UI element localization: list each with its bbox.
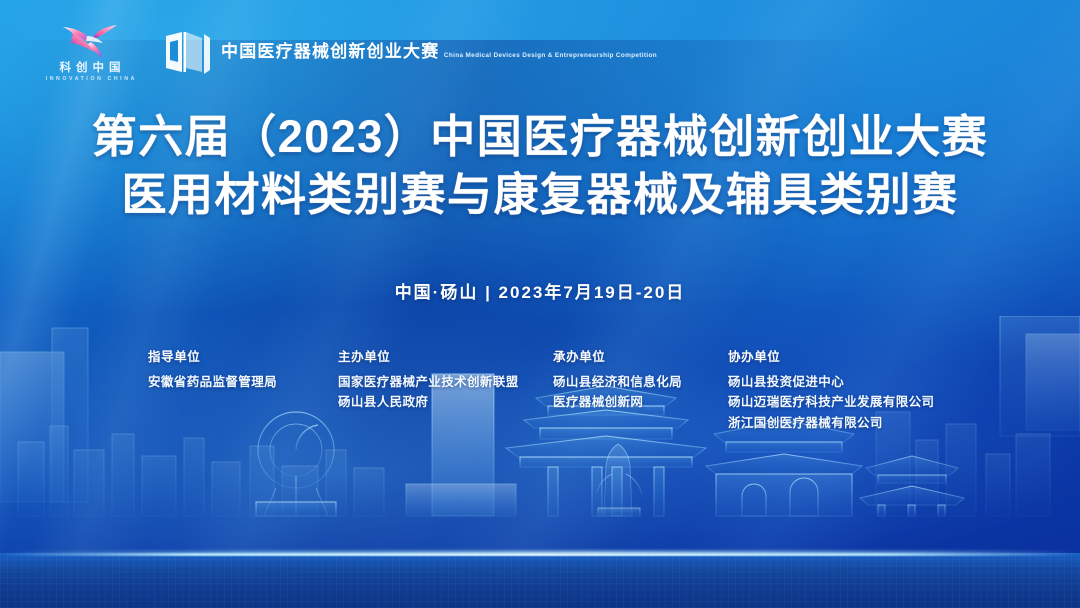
organizer-item: 砀山迈瑞医疗科技产业发展有限公司	[728, 392, 988, 412]
logo-competition-en: China Medical Devices Design & Entrepren…	[444, 52, 657, 59]
title-line-1: 第六届（2023）中国医疗器械创新创业大赛	[0, 108, 1080, 166]
organizers-section: 指导单位 安徽省药品监督管理局 主办单位 国家医疗器械产业技术创新联盟 砀山县人…	[148, 346, 1040, 433]
organizer-group-undertaker: 承办单位 砀山县经济和信息化局 医疗器械创新网	[553, 346, 728, 413]
logo-competition[interactable]: 中国医疗器械创新创业大赛 China Medical Devices Desig…	[164, 30, 657, 74]
city-wall-gate	[706, 420, 862, 516]
organizer-heading: 指导单位	[148, 346, 338, 365]
organizer-heading: 承办单位	[553, 346, 728, 365]
organizer-heading: 主办单位	[338, 346, 553, 365]
logo-innovation-china[interactable]: 科创中国 INNOVATION CHINA	[42, 22, 138, 82]
logo-competition-text: 中国医疗器械创新创业大赛 China Medical Devices Desig…	[221, 42, 657, 62]
organizer-item: 砀山县投资促进中心	[728, 372, 988, 392]
organizer-group-coorganizer: 协办单位 砀山县投资促进中心 砀山迈瑞医疗科技产业发展有限公司 浙江国创医疗器械…	[728, 346, 988, 433]
organizer-item: 砀山县人民政府	[338, 392, 553, 412]
title-line-2: 医用材料类别赛与康复器械及辅具类别赛	[0, 166, 1080, 224]
header-logos: 科创中国 INNOVATION CHINA 中国医疗器械创新创业大赛 China…	[42, 22, 657, 82]
organizer-item: 医疗器械创新网	[553, 392, 728, 412]
organizer-group-guidance: 指导单位 安徽省药品监督管理局	[148, 346, 338, 392]
logo-innovation-china-cn: 科创中国	[55, 63, 126, 75]
logo-innovation-china-en: INNOVATION CHINA	[43, 77, 137, 82]
open-book-icon	[164, 30, 210, 74]
event-location-date: 中国·砀山 | 2023年7月19日-20日	[0, 278, 1080, 303]
logo-competition-cn: 中国医疗器械创新创业大赛	[221, 42, 439, 61]
organizer-item: 国家医疗器械产业技术创新联盟	[338, 372, 553, 392]
organizer-item: 安徽省药品监督管理局	[148, 372, 338, 392]
phoenix-mark-icon	[57, 22, 123, 60]
organizer-group-host: 主办单位 国家医疗器械产业技术创新联盟 砀山县人民政府	[338, 346, 553, 413]
poster-canvas: 科创中国 INNOVATION CHINA 中国医疗器械创新创业大赛 China…	[0, 0, 1080, 608]
organizer-item: 砀山县经济和信息化局	[553, 372, 728, 392]
abstract-panel-left	[0, 328, 88, 502]
reflective-plaza	[0, 553, 1080, 608]
organizer-item: 浙江国创医疗器械有限公司	[728, 413, 988, 433]
organizer-heading: 协办单位	[728, 346, 988, 365]
page-title: 第六届（2023）中国医疗器械创新创业大赛 医用材料类别赛与康复器械及辅具类别赛	[0, 108, 1080, 223]
